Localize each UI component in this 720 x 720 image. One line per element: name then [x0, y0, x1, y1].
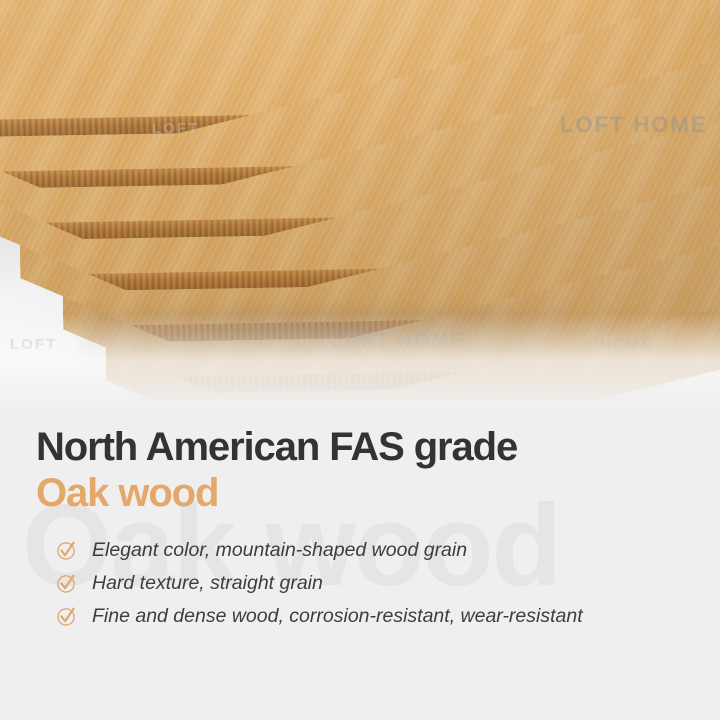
feature-list: Elegant color, mountain-shaped wood grai… — [56, 534, 720, 633]
list-item: Fine and dense wood, corrosion-resistant… — [56, 600, 720, 633]
description-panel: Oak wood North American FAS grade Oak wo… — [0, 400, 720, 720]
check-circle-icon — [56, 573, 77, 594]
list-item-label: Fine and dense wood, corrosion-resistant… — [92, 605, 583, 628]
page-subtitle: Oak wood — [36, 472, 720, 514]
photo-watermark: LOFT — [152, 120, 199, 137]
page-title: North American FAS grade — [36, 426, 720, 468]
product-feature-card: LOFT LOFT HOME LOFT HOME LOFT HOME Oak w… — [0, 0, 720, 720]
list-item: Elegant color, mountain-shaped wood grai… — [56, 534, 720, 567]
list-item: Hard texture, straight grain — [56, 567, 720, 600]
check-circle-icon — [56, 540, 77, 561]
copy-block: North American FAS grade Oak wood Elegan… — [0, 400, 720, 633]
product-photo: LOFT LOFT HOME LOFT HOME LOFT HOME — [0, 0, 720, 410]
list-item-label: Elegant color, mountain-shaped wood grai… — [92, 539, 467, 562]
check-circle-icon — [56, 606, 77, 627]
photo-bottom-fade — [0, 314, 720, 410]
list-item-label: Hard texture, straight grain — [92, 572, 323, 595]
photo-watermark: LOFT HOME — [560, 112, 708, 138]
